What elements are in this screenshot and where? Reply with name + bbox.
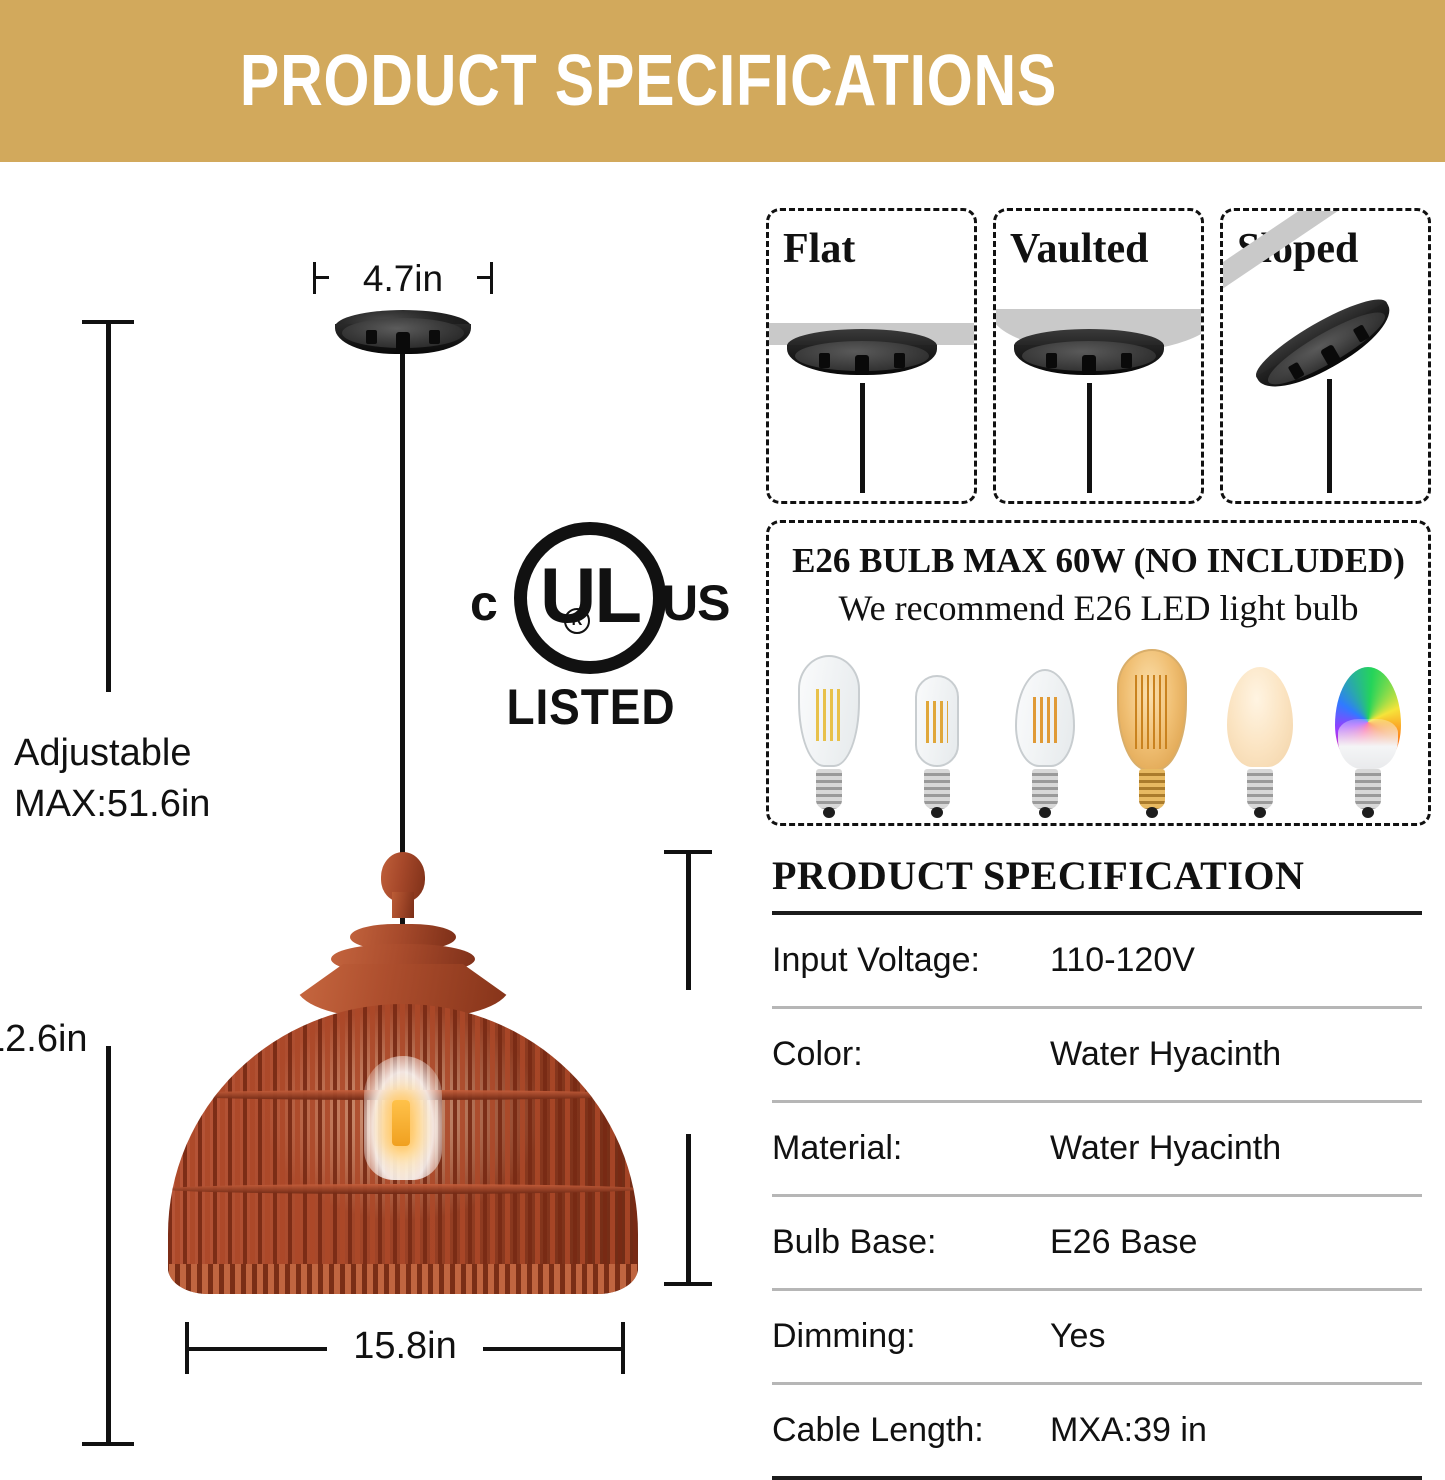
bulb-box-subtitle: We recommend E26 LED light bulb [769,587,1428,629]
vaulted-canopy [1014,329,1164,389]
adjustable-label-line2: MAX:51.6in [14,779,274,830]
specification-heading: PRODUCT SPECIFICATION [772,852,1422,899]
canopy-nipple [1082,355,1096,375]
shade-bottom-rim [168,1264,638,1294]
canopy-screw-right [1121,353,1132,368]
rattan-pendant-lamp-illustration [168,852,638,1302]
table-row: Color: Water Hyacinth [772,1008,1422,1102]
dimension-shade-width-label: 15.8in [185,1325,625,1368]
bulb-screw-base [1139,769,1165,809]
canopy-screw-right [894,353,905,368]
ul-listed-text: LISTED [476,678,706,736]
bulb-filament [926,701,948,743]
bulb-diffuser-body [1338,719,1398,769]
finial-stem [392,892,414,918]
page-title: PRODUCT SPECIFICATIONS [240,40,1205,122]
canopy-screw-left [366,330,377,344]
dimension-canopy-width: 4.7in [313,262,493,302]
canopy-cord-nipple [396,332,410,354]
table-row: Dimming: Yes [772,1290,1422,1384]
page-header-banner: PRODUCT SPECIFICATIONS [0,0,1445,162]
dimension-line-upper [106,322,111,692]
spec-key: Input Voltage: [772,915,1050,1008]
dimension-bar-left [313,276,329,279]
canopy-screw-right [429,330,440,344]
spec-key: Dimming: [772,1290,1050,1384]
flat-canopy [787,329,937,389]
spec-value: E26 Base [1050,1196,1422,1290]
spec-key: Color: [772,1008,1050,1102]
spec-key: Material: [772,1102,1050,1196]
ul-c-mark: c [470,574,498,632]
spec-key: Bulb Base: [772,1196,1050,1290]
dimension-adjustable-label: Adjustable MAX:51.6in [14,728,274,831]
table-row: Cable Length: MXA:39 in [772,1384,1422,1479]
ul-listed-certification-mark: c UL R US LISTED [466,522,716,722]
canopy-screw-left [819,353,830,368]
dimension-line-lower [106,1046,111,1444]
dimension-shade-width: 15.8in [185,1322,625,1382]
t45-tube-filament-bulb-icon [891,649,983,809]
bulb-glass [1227,667,1293,767]
bulb-recommendation-box: E26 BULB MAX 60W (NO INCLUDED) We recomm… [766,520,1431,826]
bulb-screw-base [816,769,842,809]
dimension-canopy-width-label: 4.7in [313,258,493,300]
dimension-shade-height [664,850,712,1286]
adjustable-label-line1: Adjustable [14,728,274,779]
mount-option-vaulted-label: Vaulted [1010,225,1149,273]
mount-option-sloped: Sloped [1220,208,1431,504]
canopy-screw-left [1046,353,1057,368]
product-specification-section: PRODUCT SPECIFICATION Input Voltage: 110… [772,852,1422,1480]
dimension-bar-right [477,276,493,279]
spec-key: Cable Length: [772,1384,1050,1479]
sloped-wire [1327,379,1332,493]
canopy-nipple [855,355,869,375]
bulb-box-title: E26 BULB MAX 60W (NO INCLUDED) [769,541,1428,581]
mount-option-flat: Flat [766,208,977,504]
bulb-filament [816,689,842,741]
dimension-line-upper [686,852,691,990]
shade-hoop-lower [168,1184,638,1194]
spec-value: MXA:39 in [1050,1384,1422,1479]
table-row: Material: Water Hyacinth [772,1102,1422,1196]
vintage-amber-st64-bulb-icon [1106,649,1198,809]
registered-trademark-icon: R [564,608,590,634]
spec-value: Yes [1050,1290,1422,1384]
bulb-filament [1033,697,1057,743]
bulb-screw-base [924,769,950,809]
ul-us-mark: US [662,574,729,632]
bulb-screw-base [1247,769,1273,809]
st64-edison-filament-bulb-icon [783,649,875,809]
spec-value: 110-120V [1050,915,1422,1008]
vaulted-wire [1087,383,1092,493]
product-dimension-diagram: 4.7in Adjustable MAX:51.6in c UL R US LI… [0,162,760,1419]
bulb-screw-base [1032,769,1058,809]
flat-wire [860,383,865,493]
spec-value: Water Hyacinth [1050,1008,1422,1102]
right-info-column: Flat Vaulted [760,162,1445,1419]
ceiling-mount-options: Flat Vaulted [766,208,1431,498]
dimension-line-lower [686,1134,691,1284]
rgb-smart-bulb-icon [1322,649,1414,809]
dimension-adjustable-height [82,320,134,1446]
bulb-types-row [783,643,1414,809]
dimension-shade-height-label: 12.6in [0,1018,184,1061]
a19-filament-bulb-icon [999,649,1091,809]
inner-bulb-filament [392,1100,410,1146]
mount-option-flat-label: Flat [783,225,855,273]
frosted-warm-a19-bulb-icon [1214,649,1306,809]
specification-table: Input Voltage: 110-120V Color: Water Hya… [772,915,1422,1480]
bulb-screw-base [1355,769,1381,809]
mount-option-vaulted: Vaulted [993,208,1204,504]
table-row: Bulb Base: E26 Base [772,1196,1422,1290]
bulb-filament [1135,675,1169,749]
spec-value: Water Hyacinth [1050,1102,1422,1196]
table-row: Input Voltage: 110-120V [772,915,1422,1008]
ul-letters: UL [514,522,666,674]
